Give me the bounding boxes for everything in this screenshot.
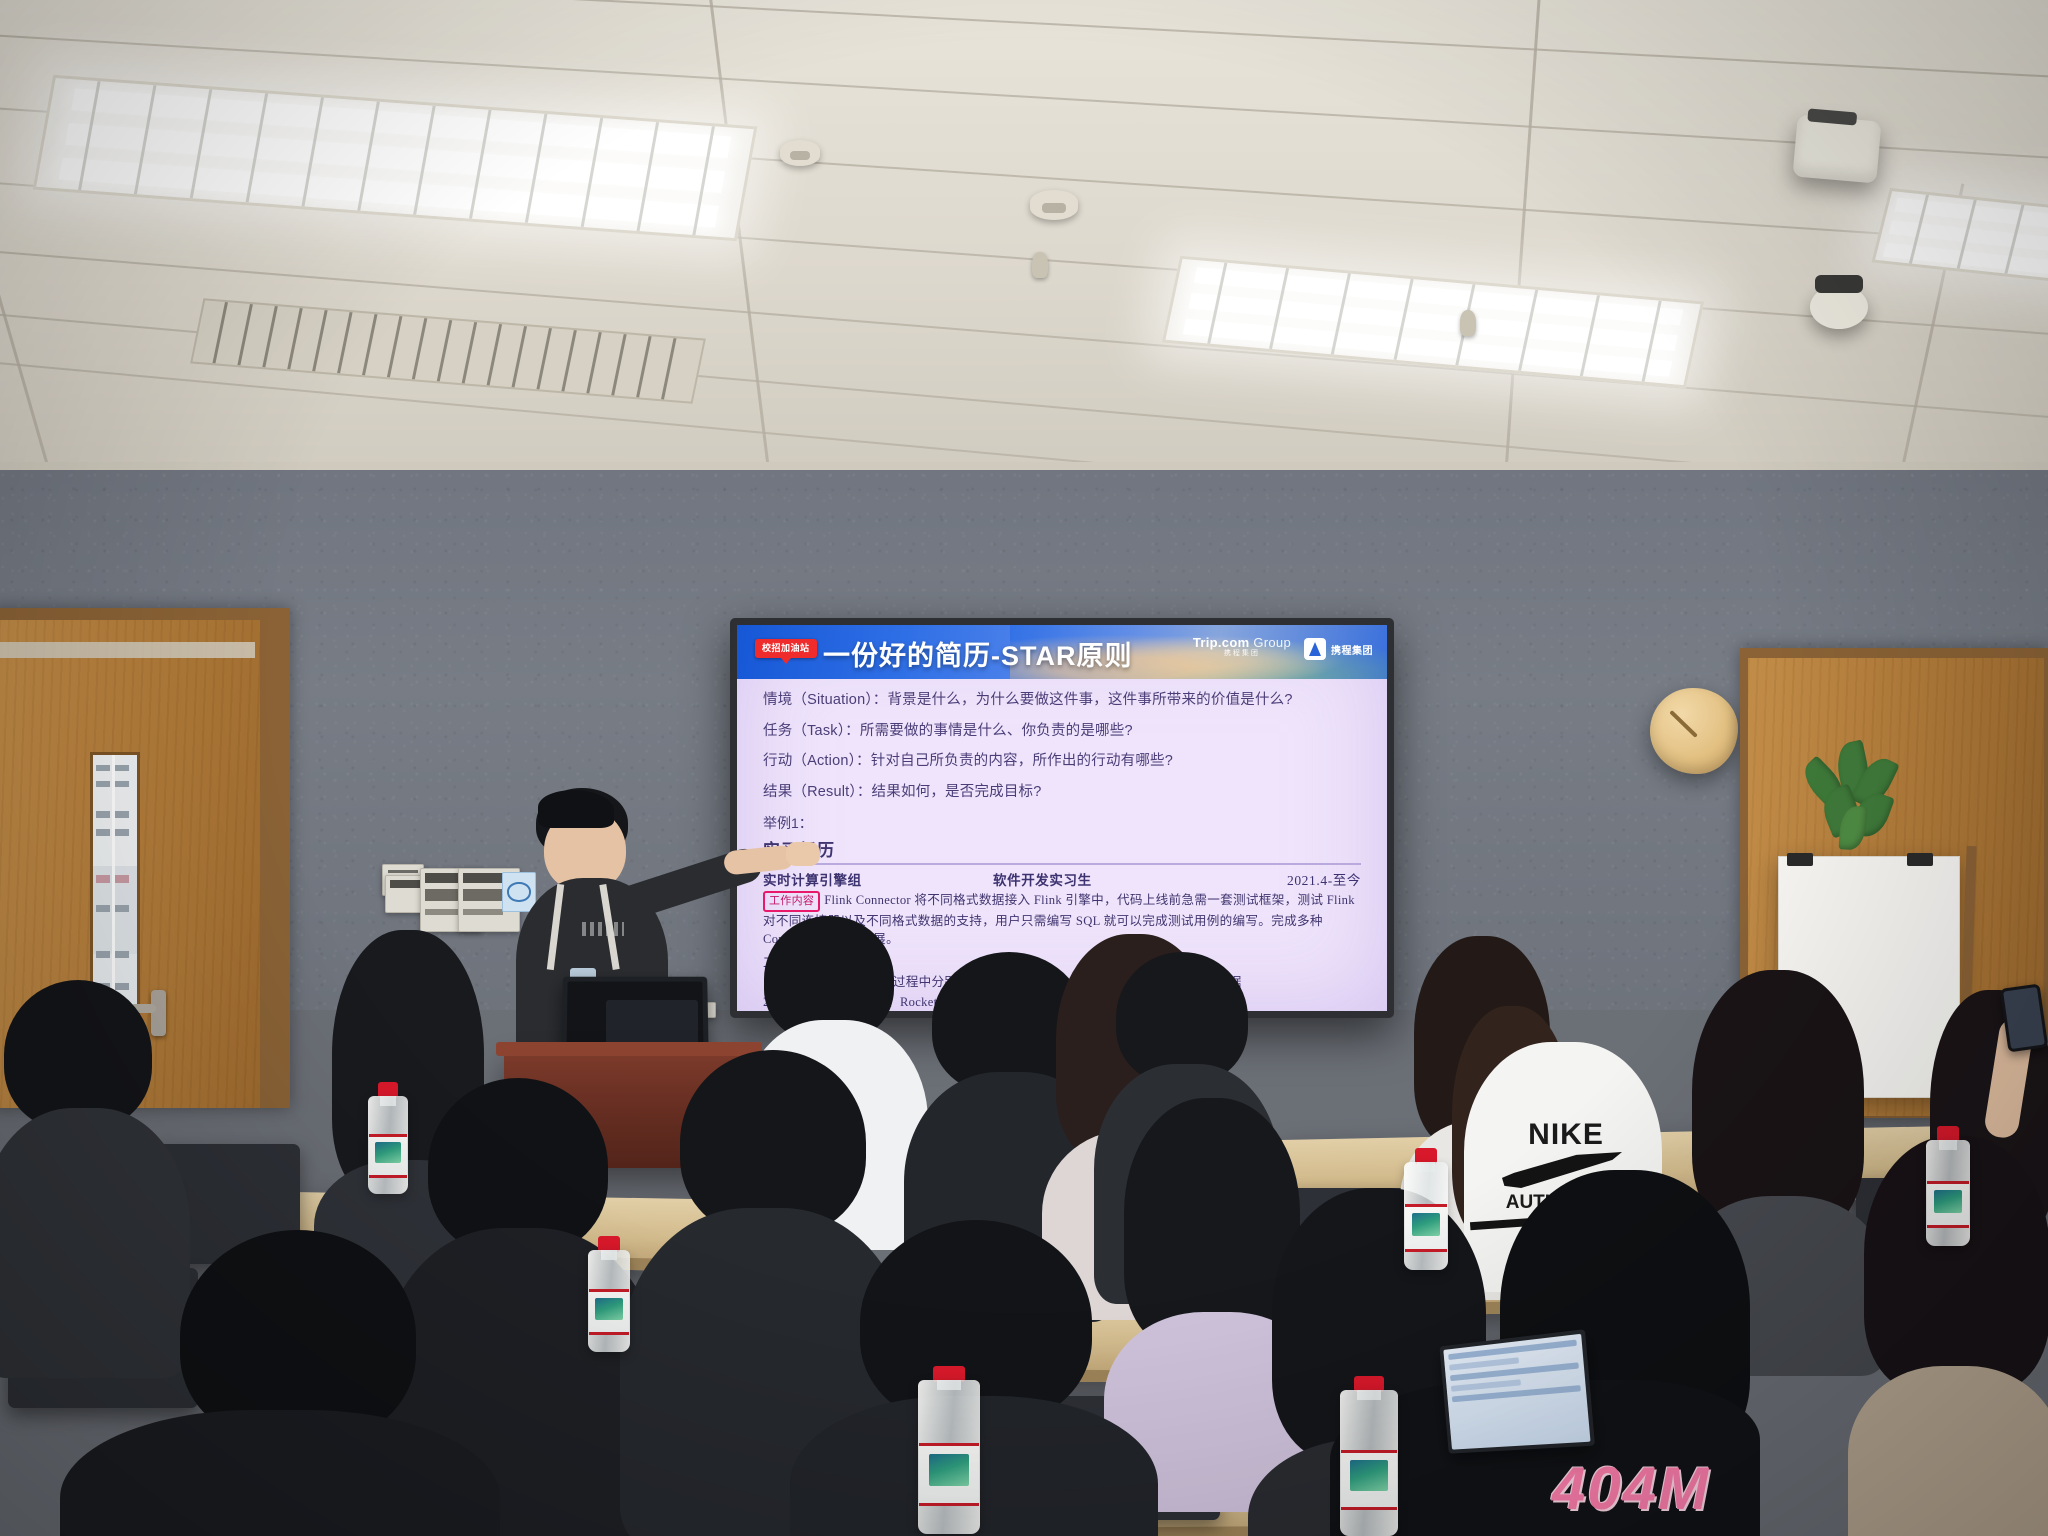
sprinkler-head-icon xyxy=(1460,310,1476,336)
smoke-detector-icon xyxy=(780,140,820,166)
water-bottle[interactable] xyxy=(918,1366,980,1534)
projector-mount xyxy=(1792,114,1881,183)
star-line-action: 行动（Action）：针对自己所负责的内容，所作出的行动有哪些? xyxy=(763,752,1361,772)
bottle-label xyxy=(1927,1181,1969,1228)
resume-dates: 2021.4-至今 xyxy=(1241,869,1361,889)
brand-name-cn: 携程集团 xyxy=(1193,650,1291,658)
torso xyxy=(1848,1366,2048,1536)
ceiling xyxy=(0,0,2048,500)
audience-laptop-screen xyxy=(1443,1334,1590,1450)
resume-role: 软件开发实习生 xyxy=(993,869,1241,889)
hair xyxy=(1692,970,1864,1234)
presenter-forearm xyxy=(723,844,795,875)
bottle-label xyxy=(1341,1450,1397,1510)
brand-suffix: Group xyxy=(1253,635,1291,650)
resume-entry-row: 实时计算引擎组 软件开发实习生 2021.4-至今 xyxy=(763,869,1361,889)
slide-title: 一份好的简历-STAR原则 xyxy=(823,634,1133,673)
ceiling-speaker-icon xyxy=(1810,285,1868,329)
star-line-task: 任务（Task）：所需要做的事情是什么、你负责的是哪些? xyxy=(763,722,1361,742)
bottle-label xyxy=(919,1443,979,1506)
presenter-shirt-graphic xyxy=(582,922,624,936)
hoodie-graphic-text: 404M xyxy=(1552,1454,1710,1523)
brand-secondary: 携程集团 xyxy=(1304,638,1373,660)
phone-screen xyxy=(2003,987,2045,1049)
bottle-label xyxy=(1405,1204,1447,1251)
ceiling-light-panel xyxy=(1871,188,2048,288)
slide-header: 校招加油站 一份好的简历-STAR原则 Trip.com Group 携程集团 … xyxy=(737,625,1387,679)
brand-tripcom: Trip.com Group 携程集团 xyxy=(1193,636,1291,658)
torso xyxy=(60,1410,500,1536)
water-bottle[interactable] xyxy=(588,1236,630,1352)
sprinkler-head-icon xyxy=(1032,252,1048,278)
ctrip-logo-icon xyxy=(1304,638,1326,660)
water-bottle[interactable] xyxy=(1926,1126,1970,1246)
wall-clock xyxy=(1650,688,1738,774)
nike-wordmark: NIKE xyxy=(1506,1118,1626,1152)
ceiling-light-panel xyxy=(33,75,758,242)
star-line-result: 结果（Result）：结果如何，是否完成目标? xyxy=(763,783,1361,803)
audience-member xyxy=(60,1230,480,1536)
brand-secondary-label: 携程集团 xyxy=(1331,642,1373,657)
presenter-hand xyxy=(786,842,820,866)
example-label: 举例1： xyxy=(763,813,1361,833)
presenter-hair-front xyxy=(538,790,614,828)
resume-section-title: 实习经历 xyxy=(763,836,1361,861)
water-bottle[interactable] xyxy=(1340,1376,1398,1536)
bottle-label xyxy=(369,1134,407,1178)
smartphone[interactable] xyxy=(2000,984,2048,1053)
brand-name: Trip.com xyxy=(1193,635,1250,650)
slide-badge: 校招加油站 xyxy=(755,639,817,658)
bottle-label xyxy=(589,1289,629,1334)
potted-plant xyxy=(1800,740,1910,870)
audience-laptop[interactable] xyxy=(1439,1329,1595,1454)
smoke-detector-icon xyxy=(1030,190,1078,220)
classroom-photo-scene: 校招加油站 一份好的简历-STAR原则 Trip.com Group 携程集团 … xyxy=(0,0,2048,1536)
resume-divider xyxy=(763,863,1361,865)
star-line-situation: 情境（Situation）：背景是什么，为什么要做这件事，这件事所带来的价值是什… xyxy=(763,691,1361,711)
water-bottle[interactable] xyxy=(368,1082,408,1194)
water-bottle[interactable] xyxy=(1404,1148,1448,1270)
